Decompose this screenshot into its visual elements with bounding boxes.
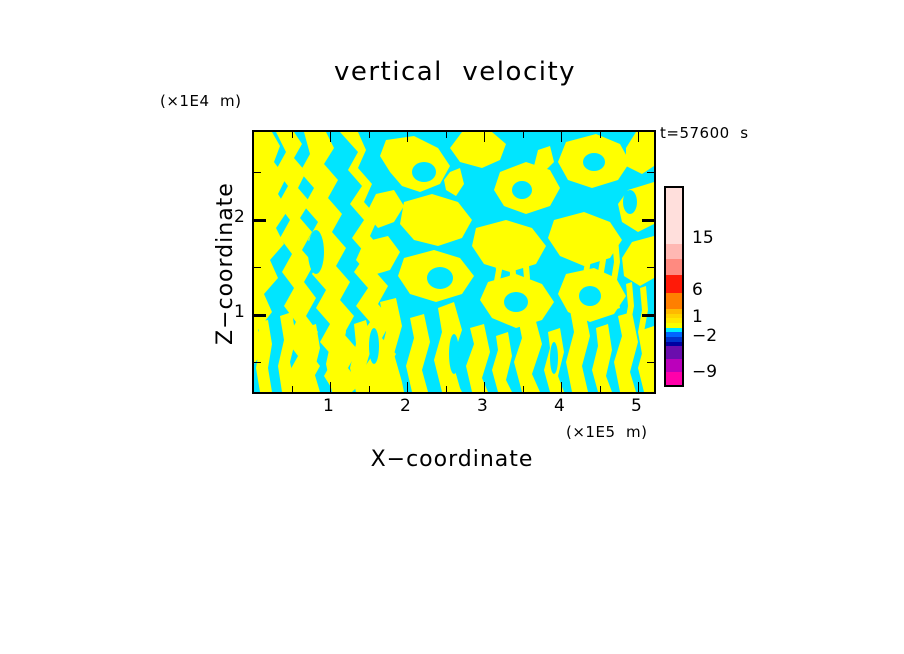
y-tick-right (642, 314, 654, 317)
colorbar-label: 15 (692, 228, 714, 248)
x-tick-top (561, 132, 562, 142)
x-tick-top-minor (292, 132, 293, 138)
x-tick-minor (600, 386, 601, 392)
x-axis-title: X−coordinate (252, 447, 652, 472)
colorbar-label: 6 (692, 280, 703, 300)
figure-canvas: vertical velocity (×1E4 m) t=57600 s Z−c… (0, 0, 904, 654)
y-tick (254, 219, 266, 222)
colorbar-band (666, 244, 682, 260)
x-tick (330, 382, 331, 392)
x-tick-top-minor (446, 132, 447, 138)
y-tick-label: 1 (234, 302, 245, 322)
colorbar-band (666, 359, 682, 372)
timestamp-annotation: t=57600 s (660, 124, 749, 142)
page-title: vertical velocity (55, 57, 855, 87)
x-tick-minor (292, 386, 293, 392)
colorbar-band (666, 346, 682, 359)
y-tick-label: 2 (234, 207, 245, 227)
x-tick-top (484, 132, 485, 142)
x-tick-top-minor (523, 132, 524, 138)
colorbar-band (666, 293, 682, 310)
x-tick-minor (523, 386, 524, 392)
x-tick-minor (446, 386, 447, 392)
colorbar-band (666, 275, 682, 293)
x-tick-label: 5 (631, 396, 642, 416)
colorbar-band (666, 188, 682, 244)
x-tick-label: 3 (477, 396, 488, 416)
x-axis-unit-label: (×1E5 m) (566, 423, 648, 441)
x-tick-top (330, 132, 331, 142)
y-axis-unit-label: (×1E4 m) (160, 92, 242, 110)
x-tick-label: 1 (323, 396, 334, 416)
y-tick-right-minor (647, 172, 654, 173)
colorbar-band (666, 259, 682, 275)
y-tick-minor (254, 362, 261, 363)
x-tick-label: 4 (554, 396, 565, 416)
x-tick (407, 382, 408, 392)
colorbar-band (666, 372, 682, 385)
x-tick-top (638, 132, 639, 142)
contour-field (254, 132, 654, 392)
y-tick-right-minor (647, 267, 654, 268)
x-tick-label: 2 (400, 396, 411, 416)
x-tick-top-minor (600, 132, 601, 138)
colorbar-label: 1 (692, 307, 703, 327)
x-tick (484, 382, 485, 392)
x-tick-top-minor (369, 132, 370, 138)
x-tick (561, 382, 562, 392)
y-tick-minor (254, 267, 261, 268)
y-tick-right-minor (647, 362, 654, 363)
y-tick-minor (254, 172, 261, 173)
y-tick (254, 314, 266, 317)
y-tick-right (642, 219, 654, 222)
contour-plot-area[interactable] (252, 130, 656, 394)
colorbar-label: −9 (692, 362, 717, 382)
x-tick (638, 382, 639, 392)
colorbar[interactable] (664, 186, 684, 387)
colorbar-label: −2 (692, 326, 717, 346)
x-tick-minor (369, 386, 370, 392)
x-tick-top (407, 132, 408, 142)
